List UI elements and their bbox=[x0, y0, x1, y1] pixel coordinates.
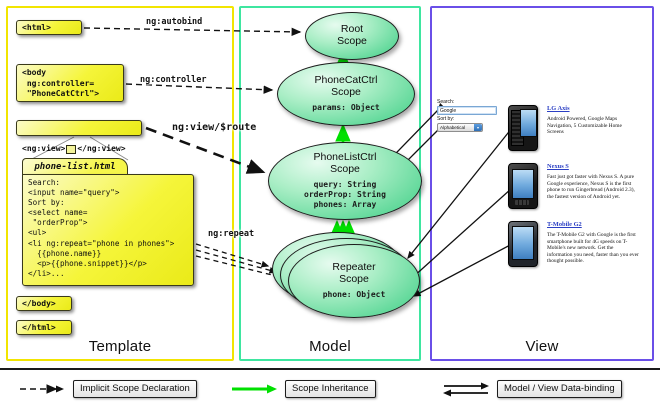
legend-label-scope-inheritance: Scope Inheritance bbox=[285, 380, 376, 398]
legend-label-model-view-data-binding: Model / View Data-binding bbox=[497, 380, 622, 398]
column-model-label: Model bbox=[241, 338, 419, 355]
edge-label-ng-autobind: ng:autobind bbox=[146, 17, 202, 27]
phone-image-nexus-s bbox=[508, 163, 538, 209]
phone-snippet: The T-Mobile G2 with Google is the first… bbox=[547, 232, 639, 265]
column-view-label: View bbox=[432, 338, 652, 355]
edge-label-ng-view-route: ng:view/$route bbox=[172, 122, 256, 133]
ngview-close-tag: </ng:view> bbox=[77, 144, 125, 155]
phone-snippet: Android Powered, Google Maps Navigation,… bbox=[547, 116, 639, 136]
scope-repeater-title: RepeaterScope bbox=[332, 262, 375, 286]
code-block-body-open: <body ng:controller= "PhoneCatCtrl"> bbox=[16, 64, 124, 102]
phone-snippet: Fast just got faster with Nexus S. A pur… bbox=[547, 174, 639, 200]
sort-select-value: Alphabetical bbox=[440, 125, 465, 130]
edge-label-ng-repeat: ng:repeat bbox=[208, 229, 254, 239]
scope-phonelistctrl-props: query: StringorderProp: Stringphones: Ar… bbox=[304, 180, 386, 210]
code-block-html-close: </html> bbox=[16, 320, 72, 335]
ngview-open-tag: <ng:view> bbox=[22, 144, 65, 155]
column-template-label: Template bbox=[8, 338, 232, 355]
dashed-arrow-icon bbox=[18, 383, 66, 395]
edge-label-ng-controller: ng:controller bbox=[140, 75, 207, 85]
ngview-placeholder-icon bbox=[66, 145, 76, 154]
diagram-canvas: Template Model View bbox=[0, 0, 660, 405]
list-item[interactable]: T-Mobile G2 The T-Mobile G2 with Google … bbox=[508, 221, 639, 267]
code-block-html-open: <html> bbox=[16, 20, 82, 35]
scope-phonecatctrl: PhoneCatCtrlScope params: Object bbox=[277, 62, 415, 126]
phone-name-link[interactable]: Nexus S bbox=[547, 163, 639, 171]
sort-select[interactable]: Alphabetical ▾ bbox=[437, 123, 483, 132]
code-block-ngview: <ng:view> </ng:view> bbox=[16, 120, 142, 136]
phone-screen-detail bbox=[512, 169, 534, 199]
double-arrow-icon bbox=[442, 381, 490, 397]
legend-label-implicit-scope-declaration: Implicit Scope Declaration bbox=[73, 380, 197, 398]
chevron-down-icon: ▾ bbox=[474, 124, 482, 131]
list-item[interactable]: LG Axis Android Powered, Google Maps Nav… bbox=[508, 105, 639, 151]
solid-green-arrow-icon bbox=[230, 383, 278, 395]
phone-image-t-mobile-g2 bbox=[508, 221, 538, 267]
scope-root-title: RootScope bbox=[337, 24, 367, 48]
note-filename-tab: phone-list.html bbox=[22, 158, 128, 175]
phone-screen-detail bbox=[512, 226, 534, 260]
scope-phonecatctrl-title: PhoneCatCtrlScope bbox=[314, 75, 377, 99]
phone-name-link[interactable]: T-Mobile G2 bbox=[547, 221, 639, 229]
list-item-text: LG Axis Android Powered, Google Maps Nav… bbox=[547, 105, 639, 136]
legend-item-model-view-data-binding: Model / View Data-binding bbox=[442, 380, 622, 398]
scope-repeater-props: phone: Object bbox=[323, 290, 386, 300]
code-block-body-close: </body> bbox=[16, 296, 72, 311]
scope-phonecatctrl-props: params: Object bbox=[312, 103, 379, 113]
scope-repeater: RepeaterScope phone: Object bbox=[288, 244, 420, 318]
list-item[interactable]: Nexus S Fast just got faster with Nexus … bbox=[508, 163, 639, 209]
scope-phonelistctrl-title: PhoneListCtrlScope bbox=[313, 152, 376, 176]
list-item-text: Nexus S Fast just got faster with Nexus … bbox=[547, 163, 639, 200]
search-input[interactable]: Google bbox=[437, 106, 497, 115]
scope-root: RootScope bbox=[305, 12, 399, 60]
phone-image-lg-axis bbox=[508, 105, 538, 151]
search-label: Search: bbox=[437, 99, 501, 106]
phone-name-link[interactable]: LG Axis bbox=[547, 105, 639, 113]
scope-phonelistctrl: PhoneListCtrlScope query: StringorderPro… bbox=[268, 142, 422, 220]
view-search-controls: Search: Google Sort by: Alphabetical ▾ bbox=[437, 99, 501, 132]
legend-item-implicit-scope-declaration: Implicit Scope Declaration bbox=[18, 380, 197, 398]
list-item-text: T-Mobile G2 The T-Mobile G2 with Google … bbox=[547, 221, 639, 265]
phone-screen-detail bbox=[520, 109, 537, 137]
legend: Implicit Scope Declaration Scope Inherit… bbox=[0, 368, 660, 405]
sort-label: Sort by: bbox=[437, 116, 501, 123]
note-code-body: Search: <input name="query"> Sort by: <s… bbox=[22, 174, 194, 286]
legend-item-scope-inheritance: Scope Inheritance bbox=[230, 380, 376, 398]
